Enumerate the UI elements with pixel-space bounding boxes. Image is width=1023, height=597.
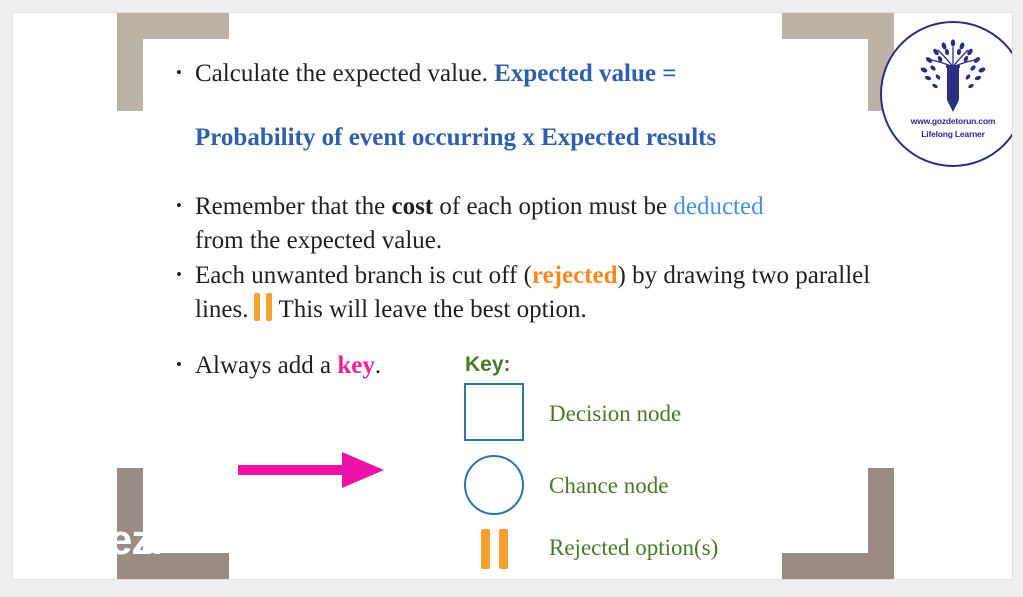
circle-node-icon	[464, 455, 524, 515]
watermark-text: ezi	[109, 519, 162, 561]
site-logo-badge: www.gozdetorun.com Lifelong Learner	[880, 21, 1013, 167]
bullet-branch-orange: rejected	[532, 262, 618, 289]
chance-node-glyph-wrap	[461, 455, 527, 520]
double-bar-icon	[461, 525, 527, 569]
bullet-expected-lead: Calculate the expected value.	[195, 60, 488, 87]
bullet-rejected-branch: Each unwanted branch is cut off (rejecte…	[173, 259, 875, 331]
key-legend-label-decision: Decision node	[549, 401, 681, 427]
logo-tagline-text: Lifelong Learner	[882, 129, 1013, 139]
corner-bracket-top-left-arm	[117, 13, 229, 39]
key-legend-label-chance: Chance node	[549, 473, 668, 499]
bullet-cost-blue: deducted	[673, 193, 763, 220]
key-legend-row-rejected: Rejected option(s)	[461, 525, 821, 579]
corner-bracket-top-right-arm	[782, 13, 894, 39]
inline-double-bar-icon	[254, 293, 272, 331]
square-node-icon	[464, 383, 524, 441]
bullet-expected-value: Calculate the expected value. Expected v…	[173, 57, 855, 91]
bullet-cost-part2: of each option must be	[439, 193, 667, 220]
bullet-expected-highlight: Expected value =	[494, 60, 676, 87]
bullet-cost-part1: Remember that the	[195, 193, 385, 220]
key-legend-row-chance: Chance node	[461, 455, 821, 525]
bullet-key-magenta: key	[337, 352, 375, 379]
magenta-arrow-icon	[238, 448, 388, 499]
bullet-branch-part1: Each unwanted branch is cut off (	[195, 262, 532, 289]
slide-viewport: ezi	[0, 0, 1023, 597]
bullet-cost-bold: cost	[391, 193, 433, 220]
bullet-cost-deduction: Remember that the cost of each option mu…	[173, 190, 795, 258]
decision-node-glyph-wrap	[461, 383, 527, 446]
bullet-key-part1: Always add a	[195, 352, 331, 379]
key-legend-row-decision: Decision node	[461, 383, 821, 455]
tree-pencil-logo-icon	[911, 37, 995, 124]
bullet-branch-part3: This will leave the best option.	[278, 296, 586, 323]
expected-value-formula: Probability of event occurring x Expecte…	[173, 121, 855, 155]
logo-url-text: www.gozdetorun.com	[882, 116, 1013, 126]
bullet-cost-part3: from the expected value.	[195, 227, 442, 254]
key-legend-title: Key:	[465, 353, 821, 377]
key-legend-label-rejected: Rejected option(s)	[549, 535, 718, 561]
bullet-key-part2: .	[375, 352, 381, 379]
key-legend-panel: Key: Decision node Chance node Rejected …	[461, 353, 821, 579]
slide-canvas: ezi	[12, 12, 1013, 580]
